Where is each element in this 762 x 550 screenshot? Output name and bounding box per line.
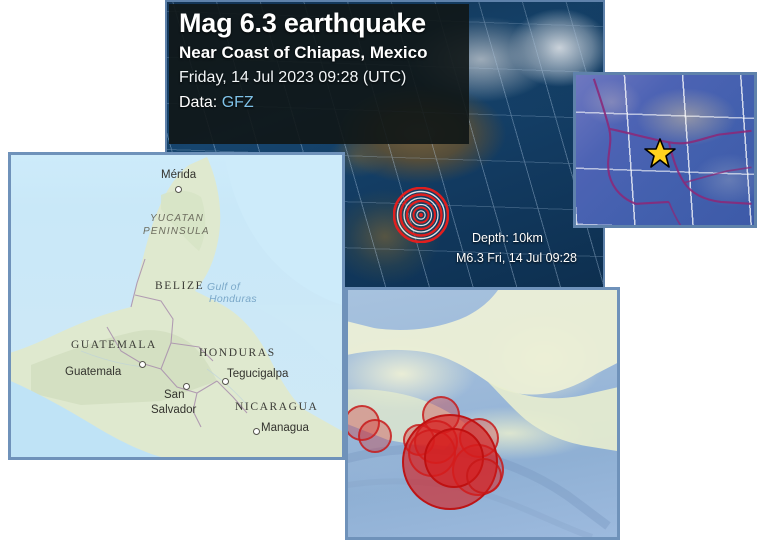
- data-source-line: Data: GFZ: [179, 90, 509, 115]
- seismicity-landmass-shapes: [348, 290, 617, 537]
- epicenter-rings-icon: [393, 187, 449, 243]
- seismicity-map-panel[interactable]: [345, 287, 620, 540]
- city-marker-dot: [253, 428, 260, 435]
- regional-landmass-shapes: [11, 155, 342, 457]
- data-source-value[interactable]: GFZ: [222, 94, 254, 111]
- epicenter-star-icon: [644, 137, 676, 169]
- city-marker-dot: [183, 383, 190, 390]
- city-marker-dot: [139, 361, 146, 368]
- city-marker-dot: [222, 378, 229, 385]
- magnitude-time-label: M6.3 Fri, 14 Jul 09:28: [456, 251, 577, 265]
- depth-label: Depth: 10km: [472, 231, 543, 245]
- earthquake-location: Near Coast of Chiapas, Mexico: [179, 40, 509, 65]
- city-marker-dot: [175, 186, 182, 193]
- tectonic-plates-inset-panel[interactable]: [573, 72, 757, 228]
- alert-header: Mag 6.3 earthquake Near Coast of Chiapas…: [179, 6, 509, 115]
- page-title: Mag 6.3 earthquake: [179, 6, 509, 40]
- regional-map-panel[interactable]: BELIZEGUATEMALAHONDURASNICARAGUAYUCATANP…: [8, 152, 345, 460]
- earthquake-datetime: Friday, 14 Jul 2023 09:28 (UTC): [179, 65, 509, 90]
- earthquake-circle-marker: [466, 458, 502, 494]
- data-source-label: Data:: [179, 94, 217, 111]
- earthquake-circle-marker: [358, 419, 392, 453]
